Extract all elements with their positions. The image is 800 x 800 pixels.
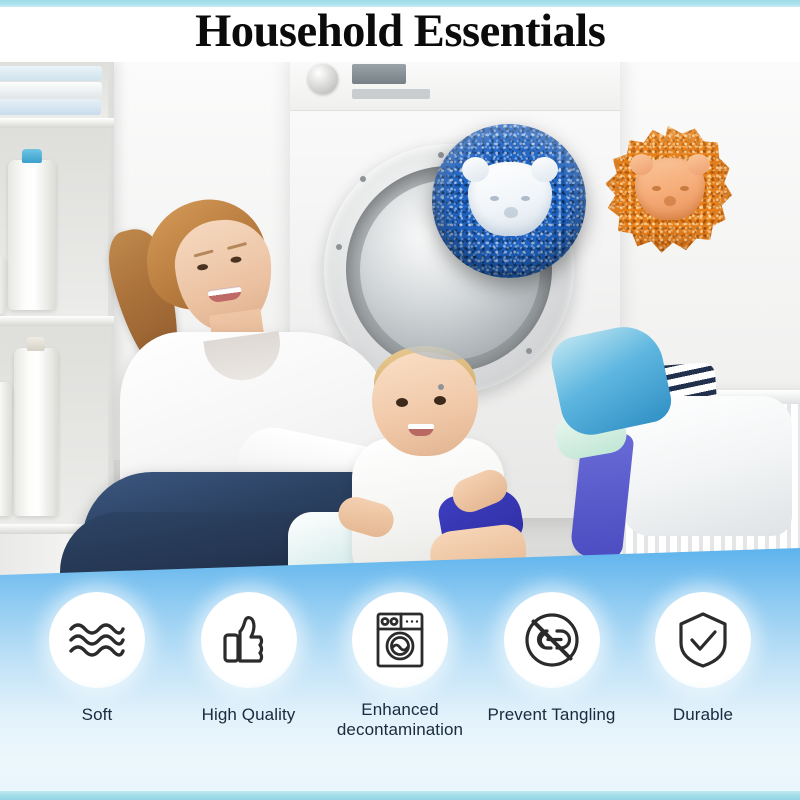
baby-head — [372, 352, 478, 456]
folded-towel — [0, 82, 102, 98]
feature-icon-badge — [49, 592, 145, 688]
feature-icon-badge — [352, 592, 448, 688]
feature-durable: Durable — [630, 592, 776, 740]
thumbs-up-icon — [221, 613, 277, 667]
washer-control-panel — [290, 60, 620, 111]
bear-eye-right — [521, 196, 530, 201]
feature-label: Enhanced decontamination — [337, 700, 463, 740]
washing-machine-icon — [374, 611, 426, 669]
bear-face-plate — [468, 162, 552, 236]
feature-high-quality: High Quality — [176, 592, 322, 740]
feature-soft: Soft — [24, 592, 170, 740]
detergent-bottle — [0, 382, 12, 516]
folded-towel — [0, 99, 101, 115]
feature-icon-badge — [655, 592, 751, 688]
bear-nose — [504, 207, 518, 218]
bottom-edge-band — [0, 791, 800, 800]
feature-label-line1: Enhanced — [337, 700, 463, 720]
bottle-cap — [22, 149, 42, 163]
folded-towel — [0, 66, 102, 81]
washer-dial — [308, 64, 338, 94]
washer-button-strip — [352, 89, 430, 99]
bear-eye-left — [490, 196, 499, 201]
bear-eye-right — [680, 186, 689, 191]
washer-display — [352, 64, 406, 84]
product-marketing-image: Household Essentials Soft — [0, 0, 800, 800]
feature-label-line2: decontamination — [337, 720, 463, 740]
feature-label: Prevent Tangling — [488, 705, 616, 725]
feature-enhanced-decontamination: Enhanced decontamination — [327, 592, 473, 740]
feature-label: Durable — [673, 705, 733, 725]
bear-ear-left — [630, 154, 653, 175]
detergent-bottle — [8, 160, 56, 310]
feature-label: Soft — [82, 705, 113, 725]
bear-ear-right — [687, 154, 710, 175]
waves-icon — [67, 617, 127, 663]
feature-icon-badge — [504, 592, 600, 688]
detergent-bottle-small — [0, 256, 6, 314]
title-bar: Household Essentials — [0, 0, 800, 62]
no-tangle-icon — [523, 611, 581, 669]
bear-ear-right — [531, 157, 558, 182]
feature-label: High Quality — [202, 705, 296, 725]
bear-nose — [664, 196, 676, 206]
shield-check-icon — [676, 611, 730, 669]
feature-list: Soft High Quality — [0, 592, 800, 740]
shelf-board — [0, 316, 114, 326]
orange-lint-catcher-ball — [604, 126, 732, 254]
feature-icon-badge — [201, 592, 297, 688]
blue-lint-catcher-ball — [432, 124, 586, 278]
bottle-cap — [27, 337, 45, 351]
page-title: Household Essentials — [195, 8, 605, 55]
detergent-bottle — [14, 348, 58, 516]
bear-eye-left — [652, 186, 661, 191]
top-edge-band — [0, 0, 800, 7]
lifestyle-photo — [0, 60, 800, 580]
bear-face-plate — [635, 158, 705, 220]
bear-ear-left — [462, 157, 489, 182]
shelf-board — [0, 118, 114, 128]
feature-prevent-tangling: Prevent Tangling — [479, 592, 625, 740]
